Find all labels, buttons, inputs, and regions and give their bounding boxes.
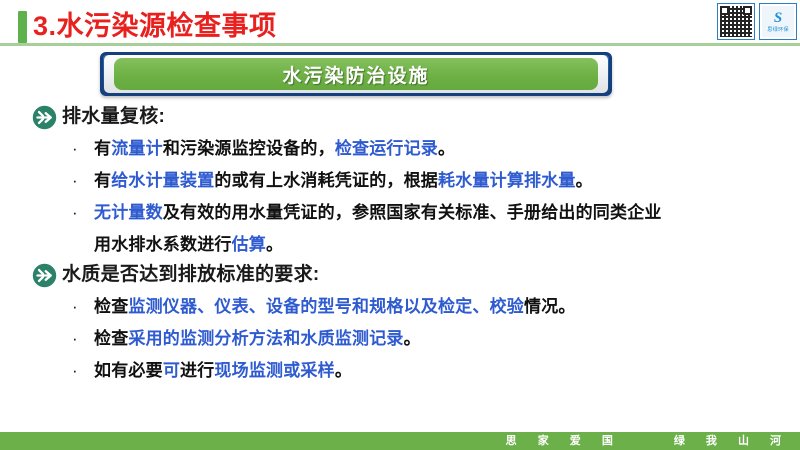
bullet-text: 无计量数及有效的用水量凭证的，参照国家有关标准、手册给出的同类企业 <box>94 197 662 228</box>
section-heading: 水质是否达到排放标准的要求: <box>0 262 800 288</box>
highlighted-text-run: 耗水量计算排水量 <box>438 171 576 190</box>
qr-code-card[interactable] <box>717 3 755 40</box>
bullet-item: ·检查监测仪器、仪表、设备的型号和规格以及检定、校验情况。 <box>0 291 800 322</box>
title-underline-divider <box>0 43 800 46</box>
text-run: 及有效的用水量凭证的，参照国家有关标准、手册给出的同类企业 <box>163 203 662 222</box>
text-run: 检查 <box>94 329 128 348</box>
highlighted-text-run: 流量计 <box>111 139 163 158</box>
section-heading: 排水量复核: <box>0 104 800 130</box>
highlighted-text-run: 检查运行记录 <box>335 139 438 158</box>
section-banner: 水污染防治设施 <box>100 52 612 96</box>
bullet-text: 检查监测仪器、仪表、设备的型号和规格以及检定、校验情况。 <box>94 291 576 322</box>
banner-title-text: 水污染防治设施 <box>282 61 429 88</box>
highlighted-text-run: 可 <box>163 361 180 380</box>
banner-fill: 水污染防治设施 <box>114 58 598 90</box>
company-logo-card[interactable]: S 思绿环保 <box>759 3 797 40</box>
text-run: 进行 <box>180 361 214 380</box>
highlighted-text-run: 无计量数 <box>94 203 163 222</box>
section-heading-text: 排水量复核: <box>62 104 165 130</box>
bullet-dot-icon: · <box>72 165 94 196</box>
bullet-item: ·无计量数及有效的用水量凭证的，参照国家有关标准、手册给出的同类企业 <box>0 197 800 228</box>
footer-phrase-left: 思 家 爱 国 <box>506 432 622 450</box>
bullet-item: ·检查采用的监测分析方法和水质监测记录。 <box>0 323 800 354</box>
content-section: 水质是否达到排放标准的要求:·检查监测仪器、仪表、设备的型号和规格以及检定、校验… <box>0 262 800 386</box>
bullet-text: 检查采用的监测分析方法和水质监测记录。 <box>94 323 421 354</box>
bullet-text: 有给水计量装置的或有上水消耗凭证的，根据耗水量计算排水量。 <box>94 165 593 196</box>
logo-company-name: 思绿环保 <box>767 27 789 33</box>
text-run: 如有必要 <box>94 361 163 380</box>
bullet-item-wrap-line: 用水排水系数进行估算。 <box>0 229 800 260</box>
bullet-text: 如有必要可进行现场监测或采样。 <box>94 355 352 386</box>
slide-root: 3.水污染源检查事项 S 思绿环保 水污染防治设施 排水量复核:·有流量计和污染… <box>0 0 800 450</box>
company-logo-icon: S 思绿环保 <box>762 6 794 37</box>
text-run: 。 <box>438 139 455 158</box>
logo-mark: S <box>774 11 782 26</box>
bullet-text: 用水排水系数进行估算。 <box>94 229 283 260</box>
title-accent-bar <box>18 11 27 43</box>
highlighted-text-run: 给水计量装置 <box>111 171 214 190</box>
bullet-dot-icon: · <box>72 355 94 386</box>
bullet-item: ·有流量计和污染源监控设备的，检查运行记录。 <box>0 133 800 164</box>
bullet-item: ·有给水计量装置的或有上水消耗凭证的，根据耗水量计算排水量。 <box>0 165 800 196</box>
highlighted-text-run: 估算 <box>232 235 266 254</box>
highlighted-text-run: 现场监测或采样 <box>214 361 334 380</box>
text-run: 情况。 <box>524 297 576 316</box>
arrow-circle-icon <box>32 263 57 288</box>
text-run: 和污染源监控设备的， <box>163 139 335 158</box>
bullet-dot-icon: · <box>72 323 94 354</box>
qr-code-icon <box>720 6 752 37</box>
text-run: 检查 <box>94 297 128 316</box>
highlighted-text-run: 采用的监测分析方法和水质监测记录 <box>128 329 403 348</box>
bullet-item: ·如有必要可进行现场监测或采样。 <box>0 355 800 386</box>
text-run: 用水排水系数进行 <box>94 235 232 254</box>
bullet-dot-icon: · <box>72 197 94 228</box>
section-heading-text: 水质是否达到排放标准的要求: <box>62 262 320 288</box>
bullet-dot-icon: · <box>72 291 94 322</box>
footer-bar: 思 家 爱 国 绿 我 山 河 <box>0 432 800 450</box>
brand-block: S 思绿环保 <box>717 3 797 40</box>
bullet-text: 有流量计和污染源监控设备的，检查运行记录。 <box>94 133 455 164</box>
arrow-circle-icon <box>32 105 57 130</box>
slide-title-row: 3.水污染源检查事项 <box>0 4 800 48</box>
text-run: 。 <box>576 171 593 190</box>
page-title: 3.水污染源检查事项 <box>33 6 277 46</box>
slide-content: 排水量复核:·有流量计和污染源监控设备的，检查运行记录。·有给水计量装置的或有上… <box>0 104 800 388</box>
text-run: 的或有上水消耗凭证的，根据 <box>214 171 438 190</box>
bullet-dot-icon: · <box>72 133 94 164</box>
text-run: 有 <box>94 171 111 190</box>
highlighted-text-run: 监测仪器、仪表、设备的型号和规格以及检定、校验 <box>128 297 524 316</box>
content-section: 排水量复核:·有流量计和污染源监控设备的，检查运行记录。·有给水计量装置的或有上… <box>0 104 800 260</box>
text-run: 。 <box>266 235 283 254</box>
text-run: 。 <box>335 361 352 380</box>
text-run: 。 <box>404 329 421 348</box>
text-run: 有 <box>94 139 111 158</box>
footer-phrase-right: 绿 我 山 河 <box>674 432 790 450</box>
